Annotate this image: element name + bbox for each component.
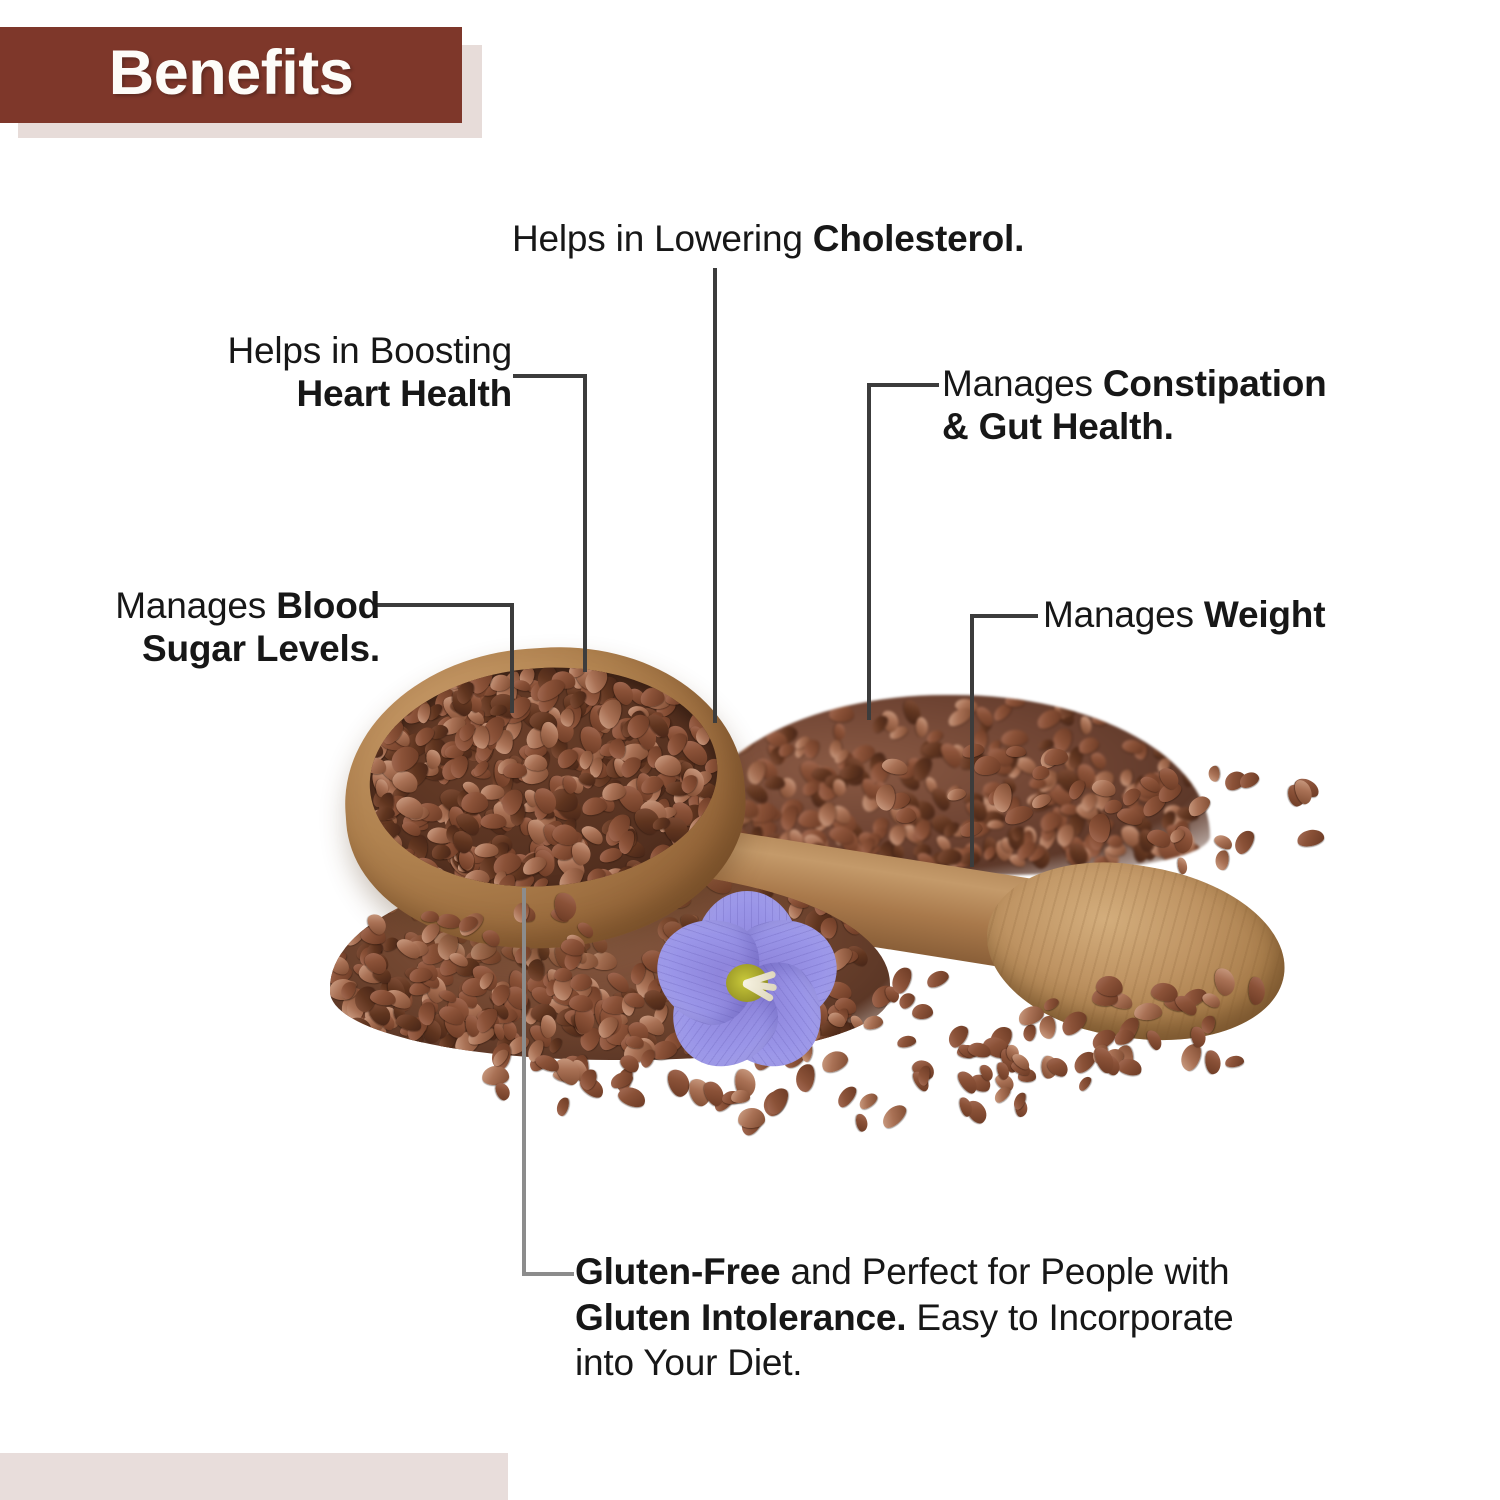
leader-line-heart-health-h [513,374,587,378]
callout-heart-health-line2: Heart Health [296,373,512,414]
leader-line-constipation-h [867,383,939,387]
product-photo [300,640,1300,1160]
leader-line-weight-v [970,614,974,867]
callout-blood-sugar: Manages Blood Sugar Levels. [74,585,380,671]
header-banner: Benefits [0,27,462,123]
callout-constipation-regular: Manages [942,363,1103,404]
callout-heart-health: Helps in Boosting Heart Health [190,330,512,416]
callout-cholesterol-regular: Helps in Lowering [512,218,813,259]
leader-line-gluten-free-v [522,888,526,1276]
callout-constipation-bold: Constipation [1103,363,1327,404]
spoon-bowl-interior [362,656,724,898]
leader-line-blood-sugar-v [510,603,514,713]
callout-gluten-free-bold1: Gluten-Free [575,1251,780,1292]
callout-gluten-free: Gluten-Free and Perfect for People with … [575,1249,1233,1386]
callout-constipation-line2: & Gut Health. [942,406,1174,447]
leader-line-heart-health-v [583,374,587,672]
callout-heart-health-line1: Helps in Boosting [190,330,512,373]
callout-gluten-free-regular3: into Your Diet. [575,1342,802,1383]
callout-gluten-free-bold2: Gluten Intolerance. [575,1297,906,1338]
callout-weight: Manages Weight [1043,594,1325,637]
benefits-infographic: Benefits [0,0,1500,1500]
flax-flower [652,890,842,1076]
footer-banner [0,1453,508,1500]
callout-blood-sugar-regular: Manages [115,585,276,626]
callout-cholesterol-bold: Cholesterol. [813,218,1024,259]
leader-line-cholesterol [713,268,717,723]
callout-gluten-free-regular2: Easy to Incorporate [906,1297,1233,1338]
callout-gluten-free-regular1: and Perfect for People with [780,1251,1229,1292]
leader-line-weight-h [970,614,1038,618]
leader-line-blood-sugar-h [376,603,514,607]
leader-line-constipation-v [867,383,871,720]
leader-line-gluten-free-h [522,1272,574,1276]
callout-blood-sugar-bold: Blood [276,585,380,626]
callout-constipation: Manages Constipation & Gut Health. [942,363,1327,449]
callout-cholesterol: Helps in Lowering Cholesterol. [512,218,1024,261]
page-title: Benefits [109,42,354,109]
callout-weight-bold: Weight [1204,594,1325,635]
wood-grain-texture [974,844,1297,1061]
callout-weight-regular: Manages [1043,594,1204,635]
callout-blood-sugar-line2: Sugar Levels. [142,628,380,669]
spoon-handle-end [974,844,1297,1061]
